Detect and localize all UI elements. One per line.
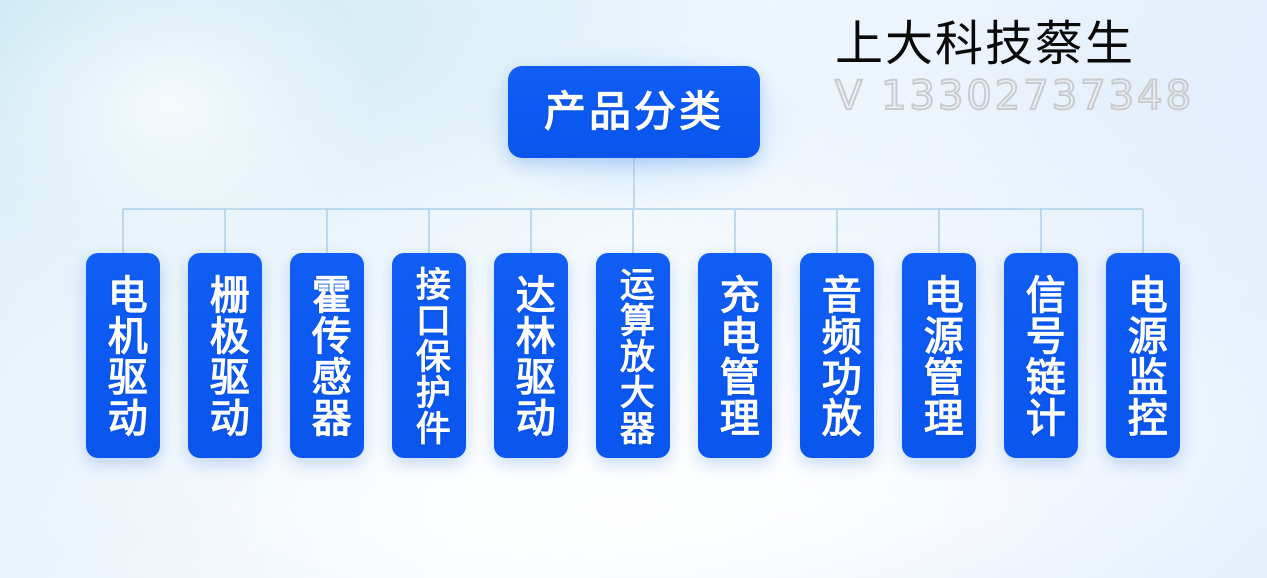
node-leaf-6[interactable]: 运算放大器 xyxy=(596,253,670,458)
node-leaf-11[interactable]: 电源监控 xyxy=(1106,253,1180,458)
brand-name: 上大科技蔡生 xyxy=(835,18,1255,71)
node-root-label: 产品分类 xyxy=(544,91,724,133)
node-leaf-label: 音频功放 xyxy=(816,274,858,438)
node-leaf-label: 电源监控 xyxy=(1122,274,1164,438)
diagram-canvas: 上大科技蔡生 V 13302737348 产品分类 电机驱动栅极驱动霍传感器接口… xyxy=(0,0,1267,578)
node-leaf-2[interactable]: 栅极驱动 xyxy=(188,253,262,458)
node-leaf-label: 充电管理 xyxy=(714,274,756,438)
brand-watermark: 上大科技蔡生 V 13302737348 xyxy=(835,18,1255,117)
node-leaf-4[interactable]: 接口保护件 xyxy=(392,253,466,458)
node-leaf-label: 霍传感器 xyxy=(306,274,348,438)
node-leaf-label: 达林驱动 xyxy=(510,274,552,438)
node-leaf-label: 电机驱动 xyxy=(102,274,144,438)
node-leaf-1[interactable]: 电机驱动 xyxy=(86,253,160,458)
node-leaf-9[interactable]: 电源管理 xyxy=(902,253,976,458)
node-root-product-classification[interactable]: 产品分类 xyxy=(508,66,760,158)
node-leaf-7[interactable]: 充电管理 xyxy=(698,253,772,458)
node-leaf-label: 接口保护件 xyxy=(411,266,447,446)
node-leaf-label: 运算放大器 xyxy=(615,266,651,446)
node-leaf-8[interactable]: 音频功放 xyxy=(800,253,874,458)
node-leaf-label: 栅极驱动 xyxy=(204,274,246,438)
node-leaf-label: 信号链计 xyxy=(1020,274,1062,438)
node-leaf-label: 电源管理 xyxy=(918,274,960,438)
node-leaf-5[interactable]: 达林驱动 xyxy=(494,253,568,458)
node-leaf-10[interactable]: 信号链计 xyxy=(1004,253,1078,458)
brand-phone: V 13302737348 xyxy=(835,75,1255,117)
node-leaf-3[interactable]: 霍传感器 xyxy=(290,253,364,458)
background-haze-top-left xyxy=(0,0,380,270)
